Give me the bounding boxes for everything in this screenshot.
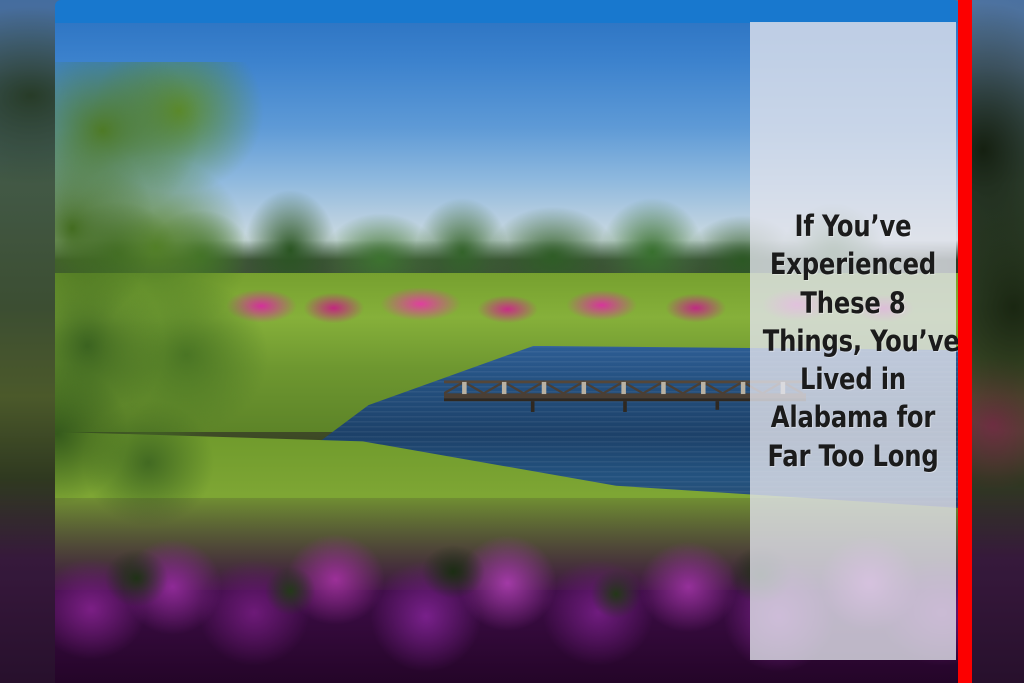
- right-accent-rule: [958, 0, 972, 683]
- headline-line-2: Experienced: [763, 245, 943, 283]
- headline-panel-inner: If You’ve Experienced These 8 Things, Yo…: [750, 207, 956, 475]
- headline-line-7: Far Too Long: [763, 437, 943, 475]
- headline-line-4: Things, You’ve: [763, 322, 943, 360]
- top-accent-bar: [55, 0, 960, 23]
- headline-line-1: If You’ve: [763, 207, 943, 245]
- headline-line-5: Lived in: [763, 360, 943, 398]
- photo-large-left-tree: [55, 62, 399, 551]
- page-title: If You’ve Experienced These 8 Things, Yo…: [763, 207, 943, 475]
- featured-image-canvas: If You’ve Experienced These 8 Things, Yo…: [0, 0, 1024, 683]
- headline-panel: If You’ve Experienced These 8 Things, Yo…: [750, 22, 956, 660]
- headline-line-3: These 8: [763, 284, 943, 322]
- headline-line-6: Alabama for: [763, 398, 943, 436]
